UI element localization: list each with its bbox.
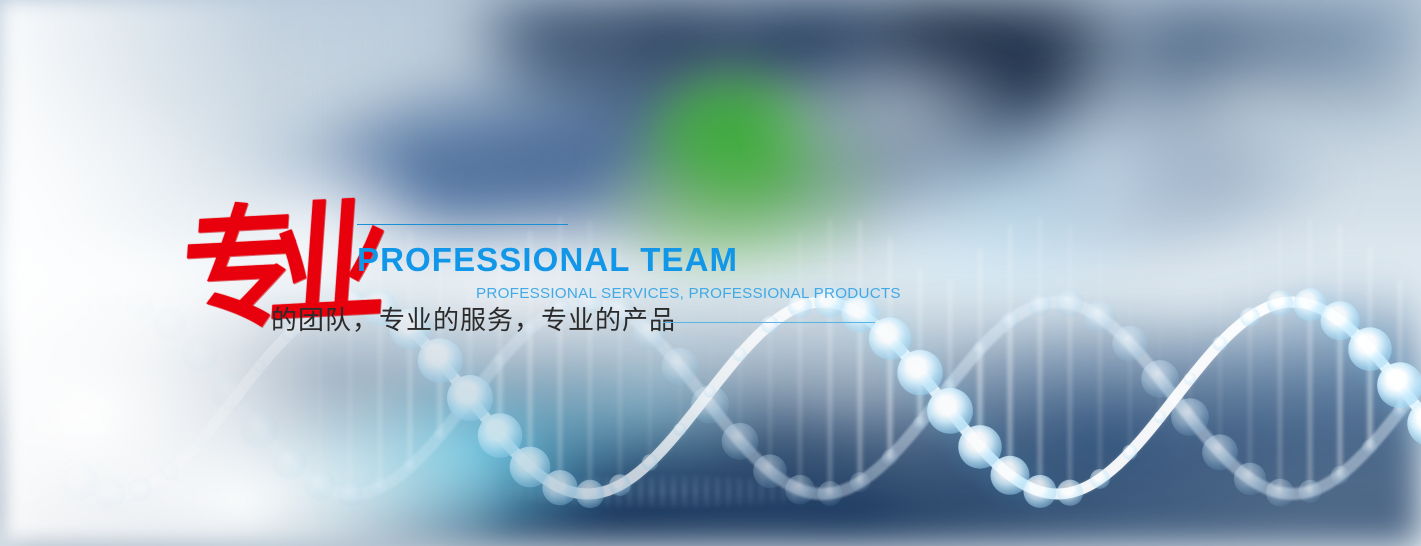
professional-team-banner: 专业 PROFESSIONAL TEAM PROFESSIONAL SERVIC…	[0, 0, 1421, 546]
top-divider-line	[357, 224, 568, 225]
chinese-calligraphy-zhuanye: 专业	[174, 198, 347, 374]
page-title-english: PROFESSIONAL TEAM	[357, 243, 738, 276]
subtitle-english: PROFESSIONAL SERVICES, PROFESSIONAL PROD…	[476, 286, 901, 301]
bottom-divider-line	[663, 322, 875, 323]
banner-text-block: 专业 PROFESSIONAL TEAM PROFESSIONAL SERVIC…	[0, 0, 1421, 546]
tagline-chinese: 的团队，专业的服务，专业的产品	[271, 308, 676, 334]
